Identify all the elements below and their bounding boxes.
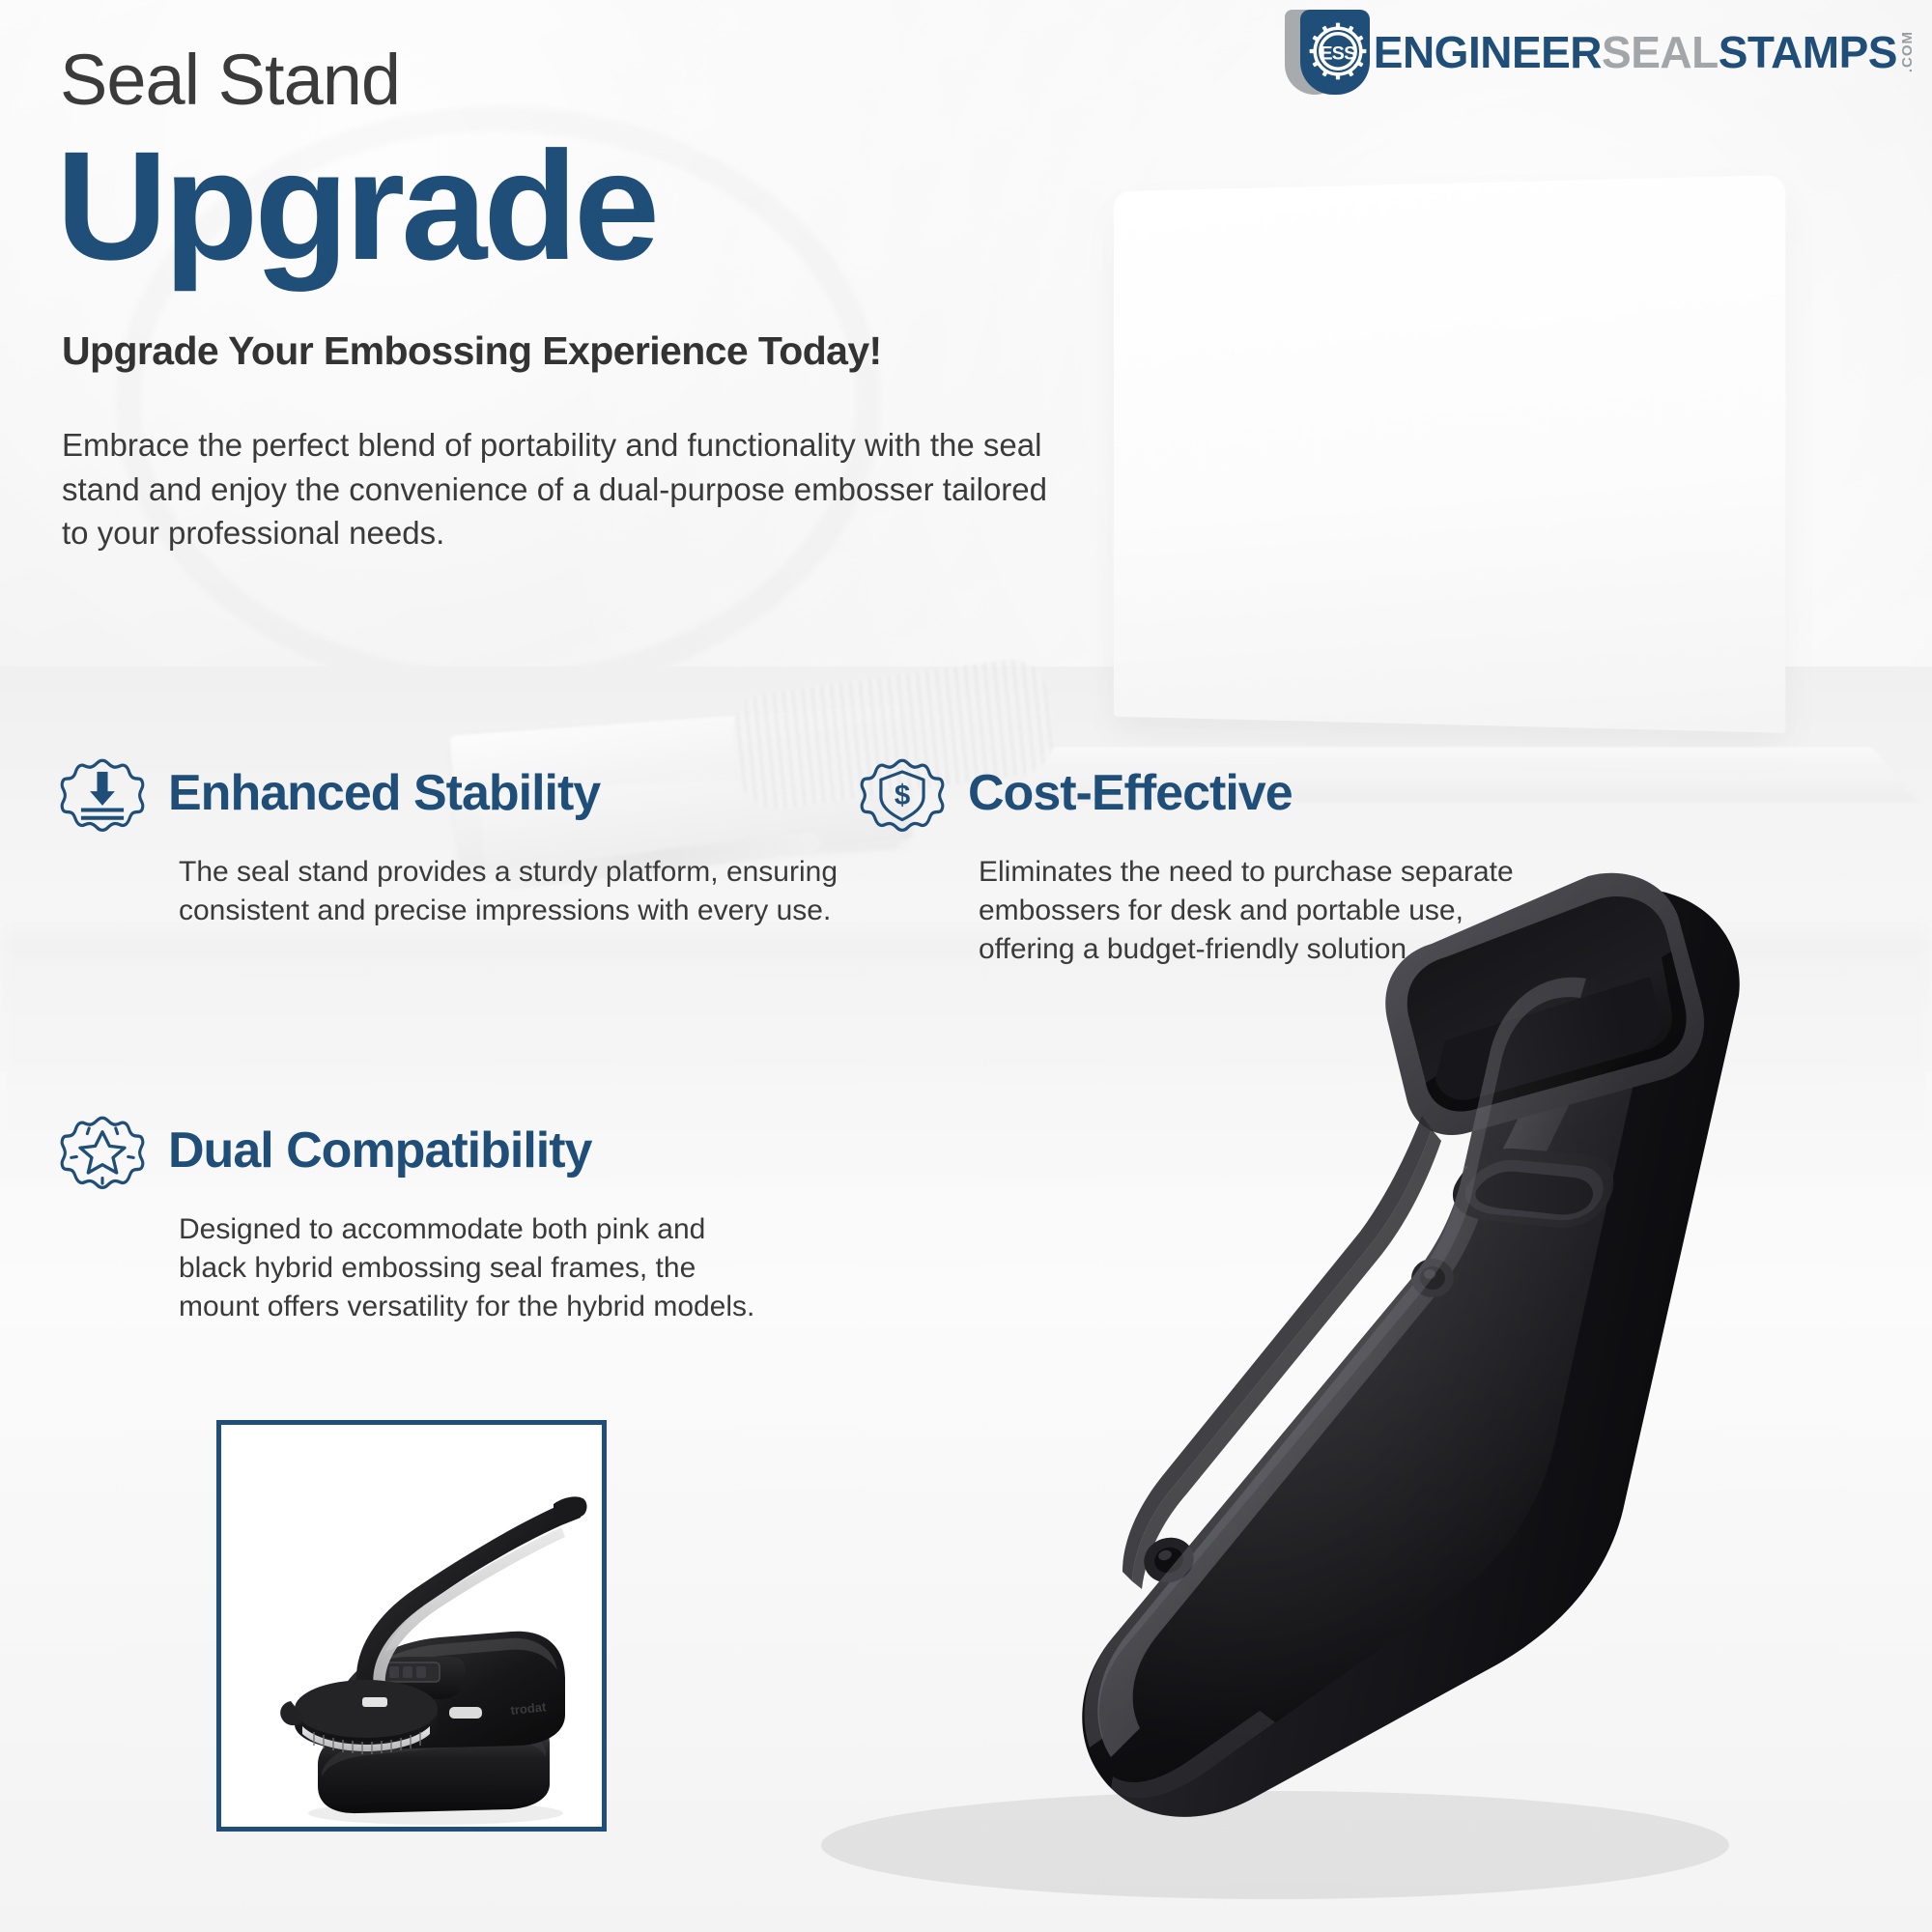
infographic-canvas: ESS ENGINEERSEALSTAMPS.COM Seal Stand Up… (0, 0, 1932, 1932)
embosser-on-seal-stand-photo[interactable]: trodat (216, 1420, 607, 1832)
brand-wordmark: ENGINEERSEALSTAMPS.COM (1374, 30, 1915, 74)
embosser-illustration: trodat (221, 1425, 602, 1827)
brand-logo[interactable]: ESS ENGINEERSEALSTAMPS.COM (1281, 8, 1915, 97)
press-down-stamp-icon (58, 749, 147, 838)
gear-icon: ESS (1304, 17, 1372, 85)
shield-dollar-icon: $ (858, 749, 947, 838)
feature-title: Cost-Effective (968, 768, 1293, 818)
svg-text:$: $ (895, 780, 910, 811)
brand-word-seal: SEAL (1602, 30, 1719, 74)
background-laptop-screen (1114, 175, 1785, 733)
ess-gear-shield-logo: ESS (1281, 8, 1374, 97)
intro-paragraph: Embrace the perfect blend of portability… (62, 423, 1057, 555)
brand-word-stamps: STAMPS (1719, 30, 1897, 74)
feature-header: $ Cost-Effective (858, 749, 1515, 838)
brand-word-engineer: ENGINEER (1374, 30, 1602, 74)
inset-photo-stage: trodat (221, 1425, 602, 1827)
seal-stand-illustration (657, 826, 1932, 1932)
subheading: Upgrade Your Embossing Experience Today! (62, 328, 882, 374)
feature-title: Dual Compatibility (168, 1125, 591, 1176)
brand-tld: .COM (1900, 31, 1915, 72)
sparkle-star-icon (58, 1106, 147, 1195)
feature-header: Enhanced Stability (58, 749, 898, 838)
eyebrow-title: Seal Stand (60, 44, 400, 116)
svg-text:ESS: ESS (1320, 43, 1356, 64)
feature-title: Enhanced Stability (168, 768, 600, 818)
black-seal-stand-product-photo[interactable] (657, 826, 1932, 1932)
page-title: Upgrade (56, 128, 656, 283)
